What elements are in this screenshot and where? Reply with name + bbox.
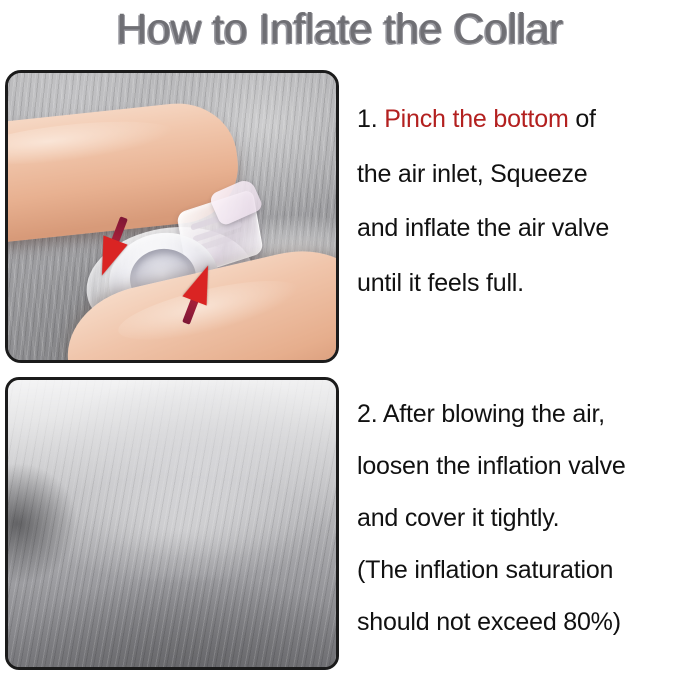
step-two: 2. After blowing the air, loosen the inf… (357, 388, 679, 648)
sealed-valve-photo-inner (8, 380, 336, 667)
step-one-line-1: 1. Pinch the bottom of (357, 92, 679, 147)
pinch-valve-photo-inner (8, 73, 336, 360)
pinch-valve-photo (5, 70, 339, 363)
step-one: 1. Pinch the bottom of the air inlet, Sq… (357, 92, 679, 310)
step-one-number: 1. (357, 105, 377, 133)
step-two-line-4: (The inflation saturation (357, 544, 679, 596)
step-one-line-2: the air inlet, Squeeze (357, 147, 679, 202)
step-two-line-5: should not exceed 80%) (357, 596, 679, 648)
step-one-line-4: until it feels full. (357, 256, 679, 311)
inflated-collar-background (8, 380, 336, 667)
step-one-highlight: Pinch the bottom (377, 105, 568, 133)
step-one-line-1-tail: of (569, 105, 596, 133)
instruction-steps: 1. Pinch the bottom of the air inlet, Sq… (357, 0, 679, 676)
step-two-line-3: and cover it tightly. (357, 492, 679, 544)
sealed-valve-photo (5, 377, 339, 670)
step-one-line-3: and inflate the air valve (357, 201, 679, 256)
step-two-line-1: 2. After blowing the air, (357, 388, 679, 440)
step-two-line-2: loosen the inflation valve (357, 440, 679, 492)
